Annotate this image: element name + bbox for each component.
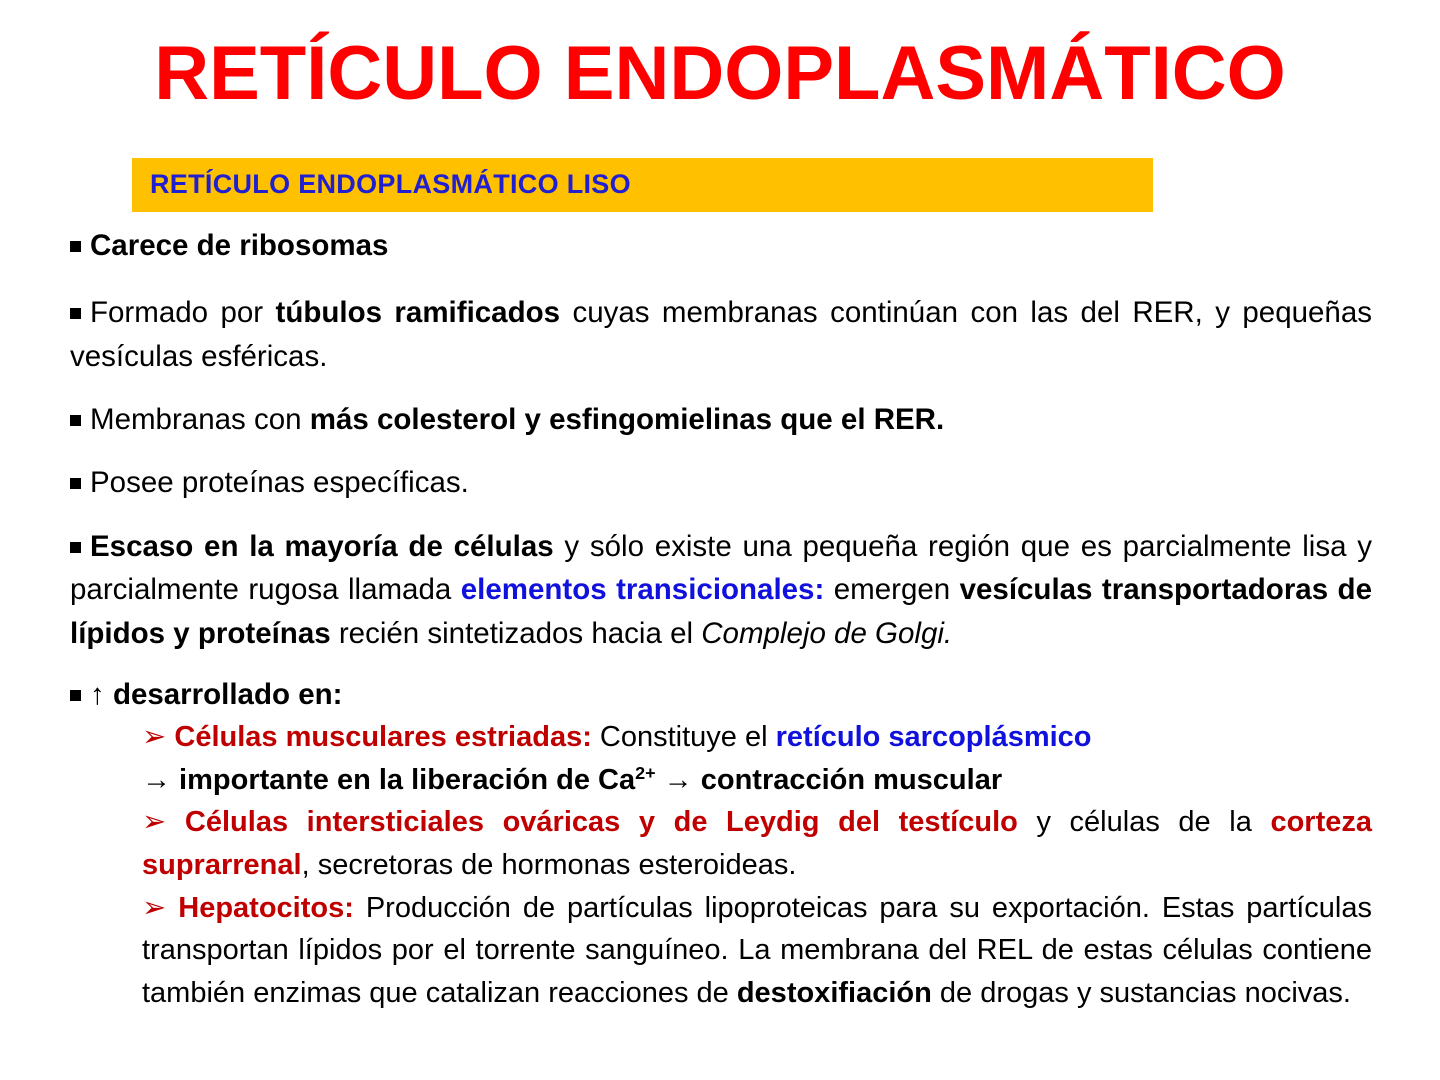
spacer — [70, 505, 1372, 525]
arrow-bullet-icon: ➢ — [142, 806, 166, 838]
arrow-bullet-icon: ➢ — [142, 721, 166, 753]
square-bullet-icon — [70, 542, 81, 553]
square-bullet-icon — [70, 415, 81, 426]
bullet-text-italic: Complejo de Golgi. — [701, 617, 952, 650]
square-bullet-icon — [70, 308, 81, 319]
bullet-text-bold: desarrollado en: — [105, 678, 343, 711]
sub-bullet-highlight-blue: retículo sarcoplásmico — [776, 721, 1092, 753]
bullet-text-lead: Formado por — [90, 296, 276, 329]
superscript-charge: 2+ — [635, 763, 656, 783]
sub-bullet-line2-bold-a: importante en la liberación de Ca — [171, 764, 635, 796]
bullet-text-highlight-blue: elementos transicionales: — [461, 573, 825, 606]
slide-body: Carece de ribosomas Formado por túbulos … — [70, 224, 1372, 1015]
arrow-right-icon: → — [142, 764, 171, 796]
bullet-text: Posee proteínas específicas. — [90, 466, 469, 499]
bullet-item-proteinas-especificas: Posee proteínas específicas. — [70, 461, 1372, 504]
sub-bullet-label: Células intersticiales ováricas y de Ley… — [185, 806, 1018, 838]
bullet-item-desarrollado-en: ↑ desarrollado en: — [70, 673, 1372, 716]
arrow-up-icon: ↑ — [90, 678, 105, 711]
sub-bullet-label: Células musculares estriadas: — [174, 721, 591, 753]
bullet-text-lead: Membranas con — [90, 403, 310, 436]
bullet-item-carece-ribosomas: Carece de ribosomas — [70, 224, 1372, 267]
spacer — [70, 441, 1372, 461]
sub-bullet-text-bold: destoxifiación — [737, 977, 932, 1009]
square-bullet-icon — [70, 690, 81, 701]
sub-bullet-hepatocitos: ➢ Hepatocitos: Producción de partículas … — [142, 887, 1372, 1015]
bullet-item-escaso-mayoria-celulas: Escaso en la mayoría de células y sólo e… — [70, 525, 1372, 655]
sub-bullet-text: Constituye el — [592, 721, 776, 753]
bullet-item-formado-por-tubulos: Formado por túbulos ramificados cuyas me… — [70, 291, 1372, 378]
bullet-text: Carece de ribosomas — [90, 229, 388, 262]
section-banner-label: RETÍCULO ENDOPLASMÁTICO LISO — [150, 169, 631, 200]
bullet-text-bold-1: Escaso en la mayoría de células — [90, 530, 554, 563]
sub-bullet-celulas-intersticiales: ➢ Células intersticiales ováricas y de L… — [142, 801, 1372, 886]
sub-bullet-text-2: de drogas y sustancias nocivas. — [932, 977, 1351, 1009]
sub-bullet-line2-bold-b: → contracción muscular — [656, 764, 1003, 796]
square-bullet-icon — [70, 241, 81, 252]
sub-bullet-celulas-musculares: ➢ Células musculares estriadas: Constitu… — [142, 716, 1372, 801]
arrow-bullet-icon: ➢ — [142, 892, 166, 924]
bullet-text-bold: túbulos ramificados — [276, 296, 561, 329]
square-bullet-icon — [70, 478, 81, 489]
section-banner: RETÍCULO ENDOPLASMÁTICO LISO — [132, 158, 1153, 212]
page-title: RETÍCULO ENDOPLASMÁTICO — [0, 36, 1440, 112]
sub-bullet-text-1: y células de la — [1018, 806, 1271, 838]
spacer — [70, 378, 1372, 398]
bullet-text-mid-3: recién sintetizados hacia el — [331, 617, 702, 650]
sub-bullet-label: Hepatocitos: — [178, 892, 354, 924]
bullet-item-membranas-colesterol: Membranas con más colesterol y esfingomi… — [70, 398, 1372, 441]
spacer — [70, 655, 1372, 673]
bullet-text-mid-2: emergen — [824, 573, 959, 606]
bullet-text-bold: más colesterol y esfingomielinas que el … — [310, 403, 944, 436]
spacer — [70, 267, 1372, 291]
sub-bullet-text-2: , secretoras de hormonas esteroideas. — [302, 849, 797, 881]
